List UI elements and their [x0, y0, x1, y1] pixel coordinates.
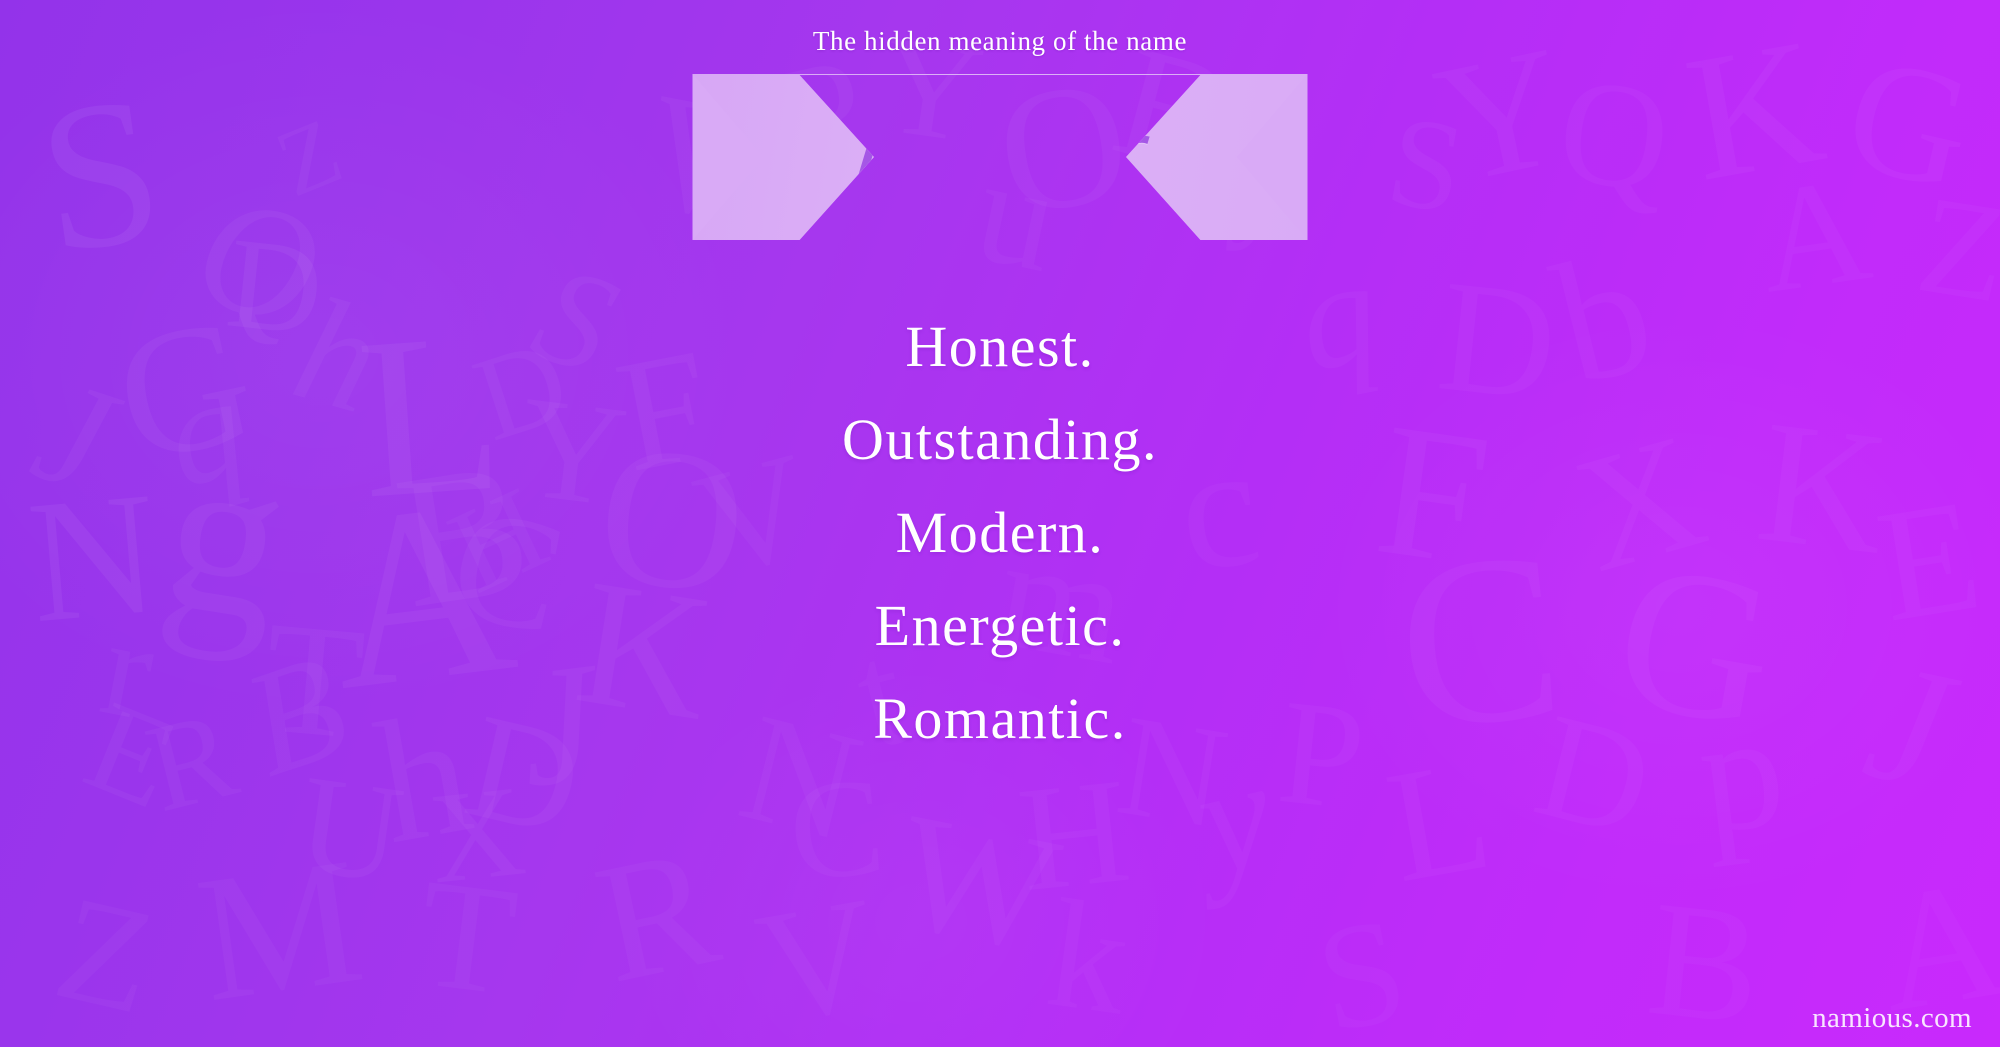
background-letter: S	[1306, 893, 1417, 1047]
trait-line: Honest.	[0, 300, 2000, 393]
background-letter: V	[747, 871, 889, 1047]
name-meaning-card: SQZDGJNgqrAERTBUhDXLhDYBCHSFOVKJNCWPYOBy…	[0, 0, 2000, 1047]
background-letter: H	[1012, 755, 1135, 916]
background-letter: W	[886, 787, 1070, 979]
background-letter: U	[291, 754, 411, 907]
trait-line: Romantic.	[0, 672, 2000, 765]
site-watermark: namious.com	[1812, 1002, 1972, 1035]
background-letter: O	[987, 51, 1139, 244]
background-letter: X	[423, 765, 530, 904]
ribbon-shape	[693, 74, 1308, 240]
background-letter: Z	[264, 103, 353, 213]
trait-line: Modern.	[0, 486, 2000, 579]
background-letter: Z	[44, 872, 167, 1039]
background-letter: B	[1642, 875, 1769, 1047]
background-letter: R	[584, 820, 730, 1010]
page-title: The hidden meaning of the name	[0, 26, 2000, 57]
background-letter: T	[411, 855, 524, 1020]
background-letter: u	[965, 134, 1070, 296]
background-letter: k	[1040, 875, 1138, 1039]
background-letter: S	[1379, 95, 1473, 236]
name-text: Homer	[851, 112, 1148, 202]
background-letter: C	[784, 756, 889, 904]
background-letter: A	[1750, 153, 1878, 317]
trait-line: Energetic.	[0, 579, 2000, 672]
background-letter: Q	[1551, 54, 1677, 216]
name-ribbon-banner: Homer	[693, 74, 1308, 240]
trait-list: Honest.Outstanding.Modern.Energetic.Roma…	[0, 300, 2000, 765]
trait-line: Outstanding.	[0, 393, 2000, 486]
background-letter: S	[28, 63, 173, 287]
background-letter: M	[188, 830, 372, 1031]
